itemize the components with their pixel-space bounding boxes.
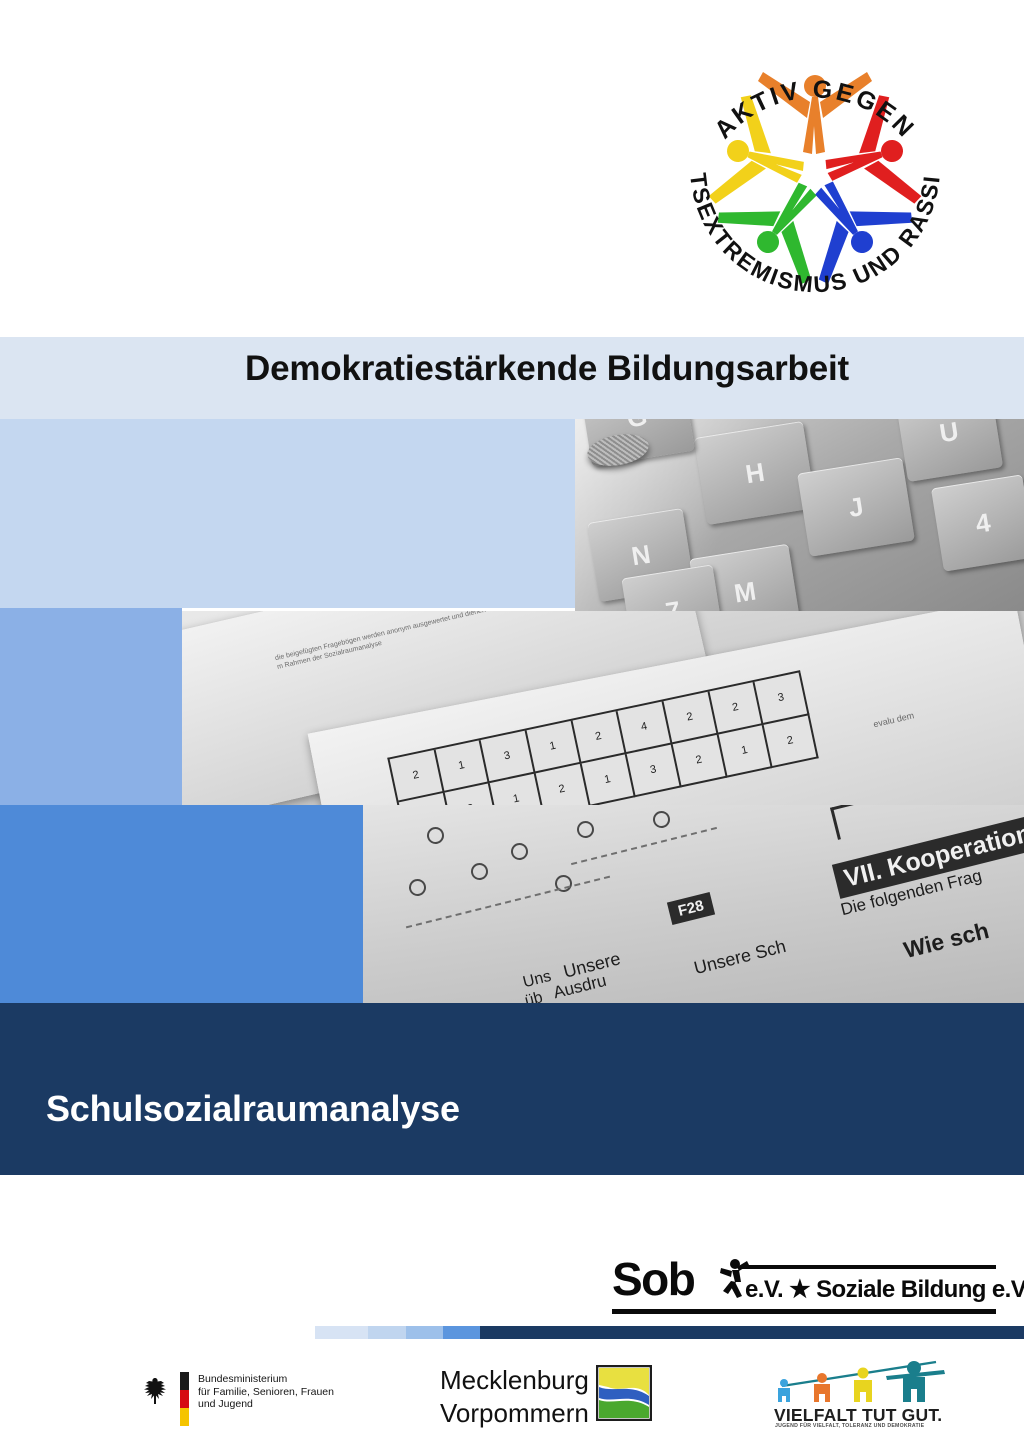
gradient-rule-segment-2 (406, 1326, 443, 1339)
aktiv-gegen-rechtsextremismus-logo: AKTIV GEGEN RECHTSEXTREMISMUS UND RASSIS… (672, 24, 958, 310)
landscape-mark-icon (596, 1365, 652, 1421)
gradient-rule-segment-0 (315, 1326, 368, 1339)
page-subtitle: Demokratiestärkende Bildungsarbeit (245, 349, 965, 389)
accent-block-light (0, 419, 575, 608)
accent-block-dark (0, 805, 363, 1003)
item-code: F28 (667, 892, 715, 925)
item-text-3: Ausdru (551, 971, 608, 1003)
german-flag-bar (180, 1372, 189, 1426)
key-4: 4 (931, 474, 1024, 571)
bundesministerium-label: Bundesministerium für Familie, Senioren,… (198, 1373, 334, 1411)
question-text: Wie sch (901, 917, 992, 964)
bundesministerium-logo: Bundesministerium für Familie, Senioren,… (140, 1372, 350, 1426)
kooperation-questionnaire-photo: VII. Kooperation Die folgenden Frag F28 … (363, 805, 1024, 1003)
federal-eagle-icon (140, 1376, 170, 1406)
gradient-rule-segment-4 (480, 1326, 1024, 1339)
gradient-rule-segment-1 (368, 1326, 406, 1339)
key-j: J (797, 457, 915, 557)
running-figure-icon (715, 1258, 749, 1300)
sobi-logo: Sob e.V. ★ Soziale Bildung e.V. ★ (612, 1252, 996, 1314)
gradient-rule-segment-3 (443, 1326, 480, 1339)
questionnaire-papers-photo: die beigefügten Fragebögen werden anonym… (182, 611, 1024, 826)
sobi-wordmark: Sob (612, 1252, 694, 1306)
vielfalt-subtitle: JUGEND FÜR VIELFALT, TOLERANZ UND DEMOKR… (775, 1423, 924, 1429)
sobi-rule-bottom (612, 1309, 996, 1314)
mecklenburg-vorpommern-logo: Mecklenburg Vorpommern (440, 1362, 650, 1432)
sobi-tagline: e.V. ★ Soziale Bildung e.V. ★ (745, 1275, 1024, 1304)
page-title: Schulsozialraumanalyse (46, 1088, 460, 1130)
key-u: U (895, 419, 1003, 482)
item-text-1: Unsere Sch (692, 936, 788, 979)
accent-block-medium (0, 608, 182, 805)
key-h: H (694, 421, 816, 525)
keyboard-photo: N M H J G U 4 7 (575, 419, 1024, 611)
mecklenburg-vorpommern-label: Mecklenburg Vorpommern (440, 1364, 589, 1430)
cover-page: AKTIV GEGEN RECHTSEXTREMISMUS UND RASSIS… (0, 0, 1024, 1448)
item-text-4: Uns (521, 968, 553, 992)
vielfalt-tut-gut-logo: VIELFALT TUT GUT. JUGEND FÜR VIELFALT, T… (768, 1360, 960, 1432)
sobi-rule-top (742, 1265, 996, 1269)
vielfalt-figures-icon (768, 1360, 960, 1406)
page-corner-mark (830, 805, 905, 840)
